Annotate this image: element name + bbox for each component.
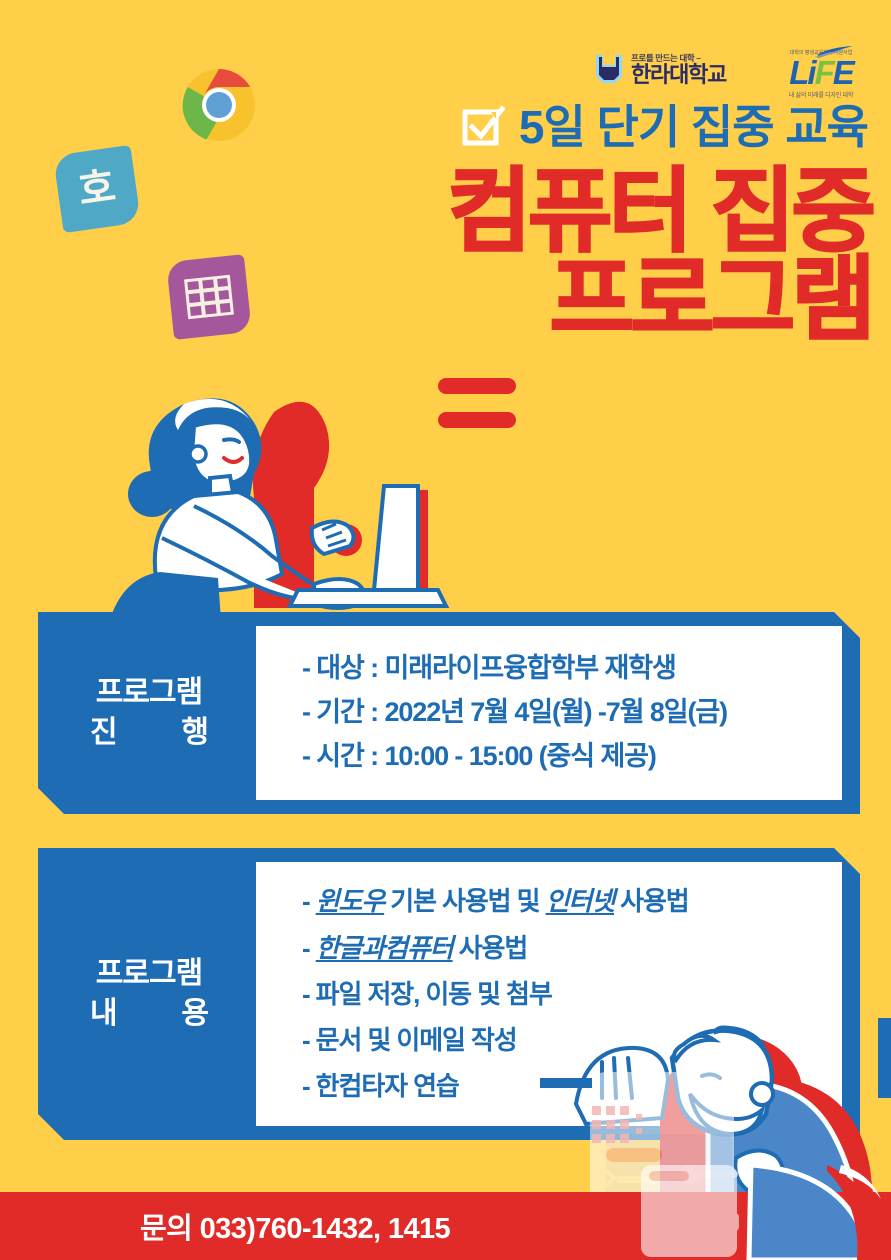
title-line-2: 프로그램 [0,256,872,344]
schedule-label-line2-b: 행 [181,713,208,753]
life-program-logo: 대학의 평생교육체제 지원사업 LiFE 내 삶의 미래를 디자인 대학 [770,48,872,99]
content-line-1-mid: 사용법 [453,933,528,963]
headline: 5일 단기 집중 교육 [0,104,868,150]
poster-root: 프로를 만드는 대학 – 한라대학교 대학의 평생교육체제 지원사업 LiFE … [0,0,891,1260]
content-label-line2-a: 내 [90,994,117,1034]
program-content-label: 프로그램 내 용 [38,954,256,1033]
schedule-label-line2-a: 진 [90,713,117,753]
program-schedule-box: 프로그램 진 행 - 대상 : 미래라이프융합학부 재학생 - 기간 : 202… [38,612,860,814]
content-line-0-em2: 인터넷 [546,886,614,916]
life-e: E [833,54,853,91]
life-bottom-text: 내 삶의 미래를 디자인 대학 [789,90,853,99]
program-schedule-panel: - 대상 : 미래라이프융합학부 재학생 - 기간 : 2022년 7월 4일(… [256,626,842,800]
content-line-hancom: - 한글과컴퓨터 사용법 [302,925,842,971]
halla-h-mark-icon [592,52,626,86]
life-swoosh-icon [815,46,855,58]
life-wordmark: LiFE [789,57,853,88]
man-with-tablet-illustration [540,1018,891,1218]
halla-university-logo: 프로를 만드는 대학 – 한라대학교 [592,52,726,86]
content-line-1-em1: 한글과컴퓨터 [316,933,453,963]
halla-name: 한라대학교 [631,64,726,86]
content-label-line1: 프로그램 [42,954,256,994]
schedule-line-target: - 대상 : 미래라이프융합학부 재학생 [302,647,842,691]
halla-tagline: 프로를 만드는 대학 – [631,54,726,63]
schedule-label-line1: 프로그램 [42,673,256,713]
logo-row: 프로를 만드는 대학 – 한라대학교 대학의 평생교육체제 지원사업 LiFE … [0,22,891,84]
program-schedule-label: 프로그램 진 행 [38,673,256,752]
content-line-1-pre: - [302,933,316,963]
footer-contact-text: 문의 033)760-1432, 1415 [140,1205,450,1247]
life-li: Li [789,54,814,91]
life-f: F [815,54,833,91]
checked-box-icon [461,105,505,149]
headline-text: 5일 단기 집중 교육 [519,104,868,150]
content-line-file: - 파일 저장, 이동 및 첨부 [302,971,842,1017]
content-line-0-pre: - [302,886,316,916]
schedule-line-time: - 시간 : 10:00 - 15:00 (중식 제공) [302,735,842,779]
content-label-line2-b: 용 [181,994,208,1034]
title-line-1: 컴퓨터 집중 [0,168,872,256]
page-title: 컴퓨터 집중 프로그램 [0,168,872,345]
halla-logo-text: 프로를 만드는 대학 – 한라대학교 [631,54,726,87]
content-line-0-em1: 윈도우 [316,886,384,916]
content-line-windows-internet: - 윈도우 기본 사용법 및 인터넷 사용법 [302,878,842,924]
footer-contact-bar: 문의 033)760-1432, 1415 [0,1192,891,1260]
schedule-line-period: - 기간 : 2022년 7월 4일(월) -7월 8일(금) [302,691,842,735]
woman-at-laptop-illustration [98,378,498,638]
content-line-0-mid: 기본 사용법 및 [384,886,545,916]
content-line-0-post: 사용법 [614,886,689,916]
